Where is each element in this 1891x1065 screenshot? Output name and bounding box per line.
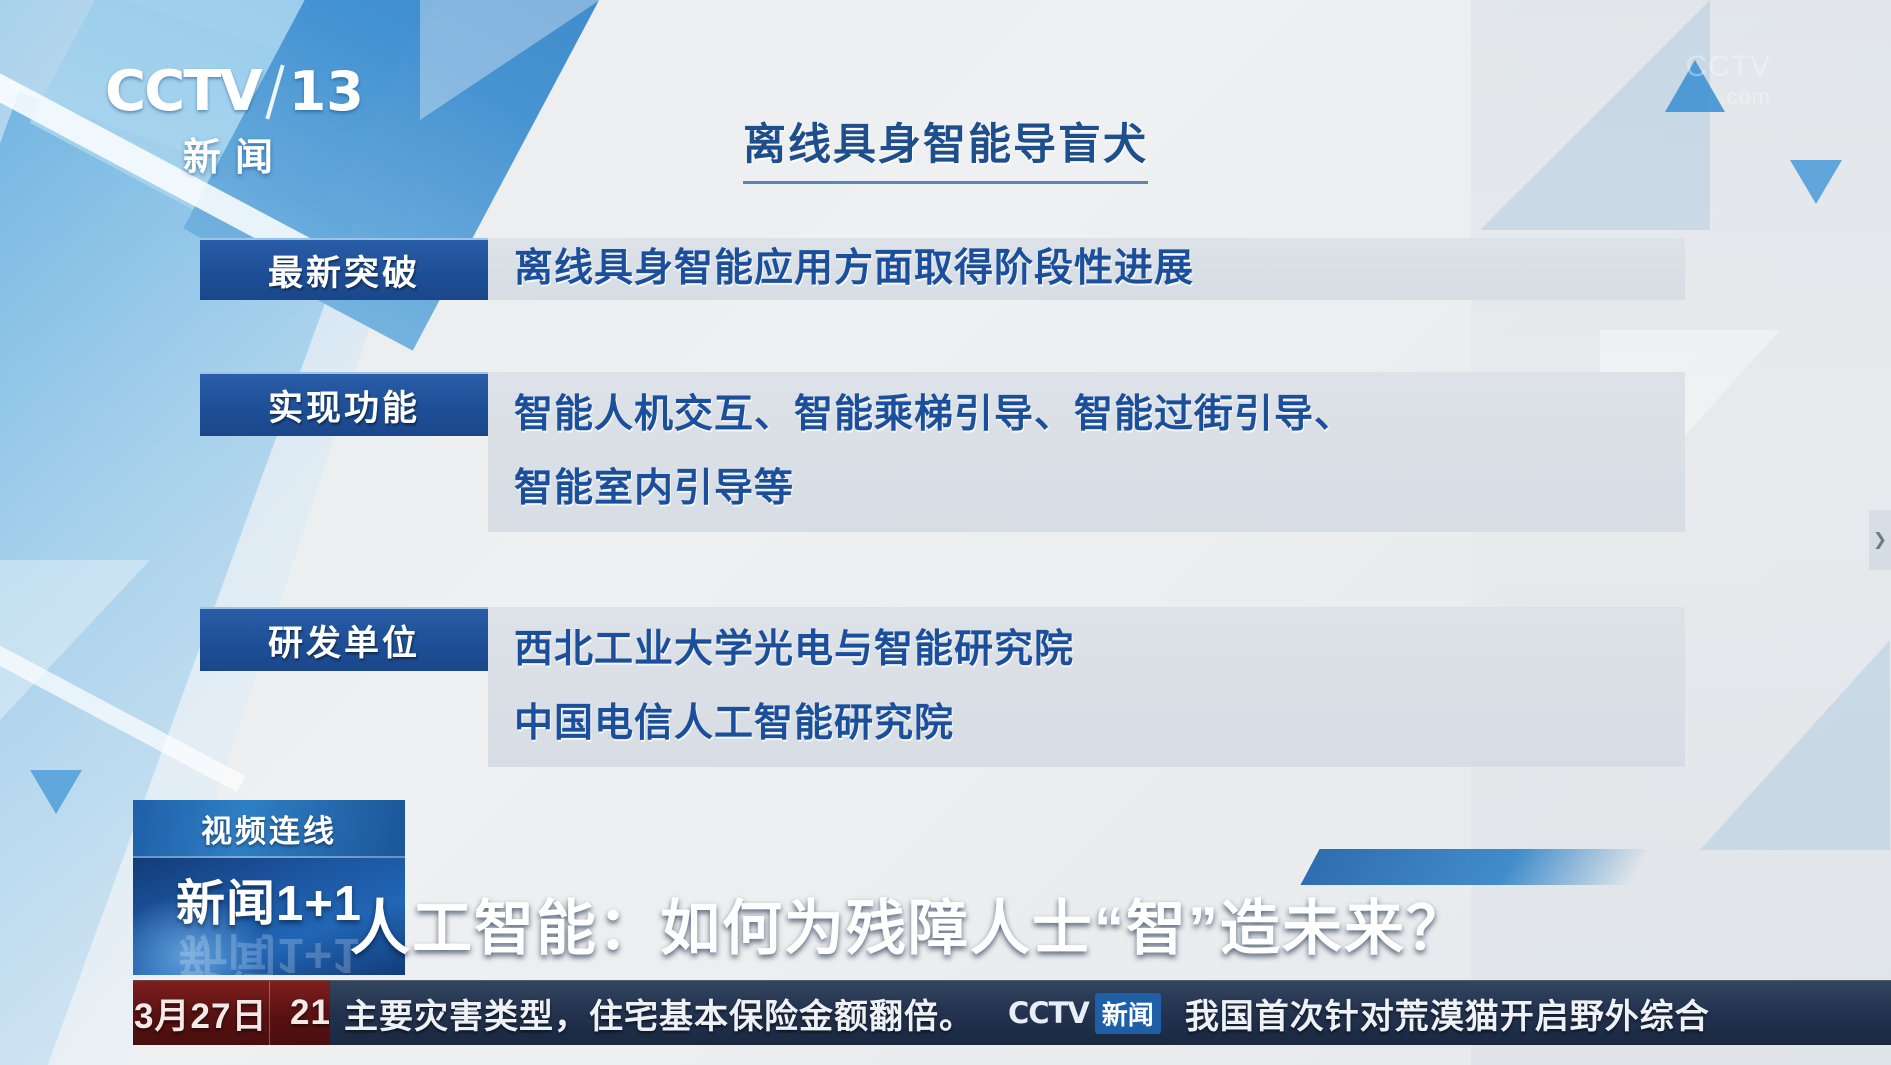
lower-third: 视频连线 新闻1+1 新闻1+1 3月27日 21:38 人工智能：如何为残障人… <box>0 800 1891 1065</box>
info-row-label-wrap: 最新突破 <box>200 238 488 300</box>
news-ticker: 主要灾害类型，住宅基本保险金额翻倍。 CCTV 新闻 我国首次针对荒漠猫开启野外… <box>330 980 1891 1045</box>
headline-bar: 人工智能：如何为残障人士“智”造未来？ <box>330 873 1891 973</box>
ticker-source-badge: CCTV 新闻 <box>1008 993 1161 1034</box>
info-row-content: 离线具身智能应用方面取得阶段性进展 <box>488 238 1685 300</box>
channel-logo: CCTV 13 新闻 <box>105 60 365 175</box>
channel-logo-text: CCTV <box>105 64 261 120</box>
date-display: 3月27日 <box>133 981 270 1045</box>
channel-logo-subtitle: 新闻 <box>105 126 365 181</box>
channel-logo-divider <box>265 65 284 120</box>
channel-logo-number: 13 <box>289 65 364 119</box>
info-row-line: 智能室内引导等 <box>514 452 1685 526</box>
ticker-item: 我国首次针对荒漠猫开启野外综合 <box>1171 989 1710 1038</box>
info-row-label-wrap: 研发单位 <box>200 607 488 767</box>
info-row-label: 研发单位 <box>200 607 488 671</box>
info-row: 实现功能 智能人机交互、智能乘梯引导、智能过街引导、 智能室内引导等 <box>200 372 1685 532</box>
info-row: 最新突破 离线具身智能应用方面取得阶段性进展 <box>200 238 1685 300</box>
info-row-content: 西北工业大学光电与智能研究院 中国电信人工智能研究院 <box>488 607 1685 767</box>
headline-text: 人工智能：如何为残障人士“智”造未来？ <box>350 880 1468 967</box>
slide-title-text: 离线具身智能导盲犬 <box>743 110 1148 184</box>
info-row-label-wrap: 实现功能 <box>200 372 488 532</box>
info-row-line: 中国电信人工智能研究院 <box>514 687 1685 761</box>
info-row: 研发单位 西北工业大学光电与智能研究院 中国电信人工智能研究院 <box>200 607 1685 767</box>
info-row-label: 实现功能 <box>200 372 488 436</box>
info-row-line: 离线具身智能应用方面取得阶段性进展 <box>514 232 1685 306</box>
chevron-right-icon[interactable]: ❯ <box>1869 510 1891 570</box>
ticker-item: 主要灾害类型，住宅基本保险金额翻倍。 <box>330 989 974 1038</box>
info-row-line: 智能人机交互、智能乘梯引导、智能过街引导、 <box>514 378 1685 452</box>
ticker-news-chip: 新闻 <box>1095 993 1161 1034</box>
ticker-cctv-logo: CCTV <box>1008 996 1089 1030</box>
info-row-content: 智能人机交互、智能乘梯引导、智能过街引导、 智能室内引导等 <box>488 372 1685 532</box>
info-row-line: 西北工业大学光电与智能研究院 <box>514 613 1685 687</box>
broadcast-screen: CCTV 13 新闻 CCTV .com 离线具身智能导盲犬 最新突破 离线具身… <box>0 0 1891 1065</box>
info-row-label: 最新突破 <box>200 238 488 300</box>
video-link-badge: 视频连线 <box>133 800 405 858</box>
